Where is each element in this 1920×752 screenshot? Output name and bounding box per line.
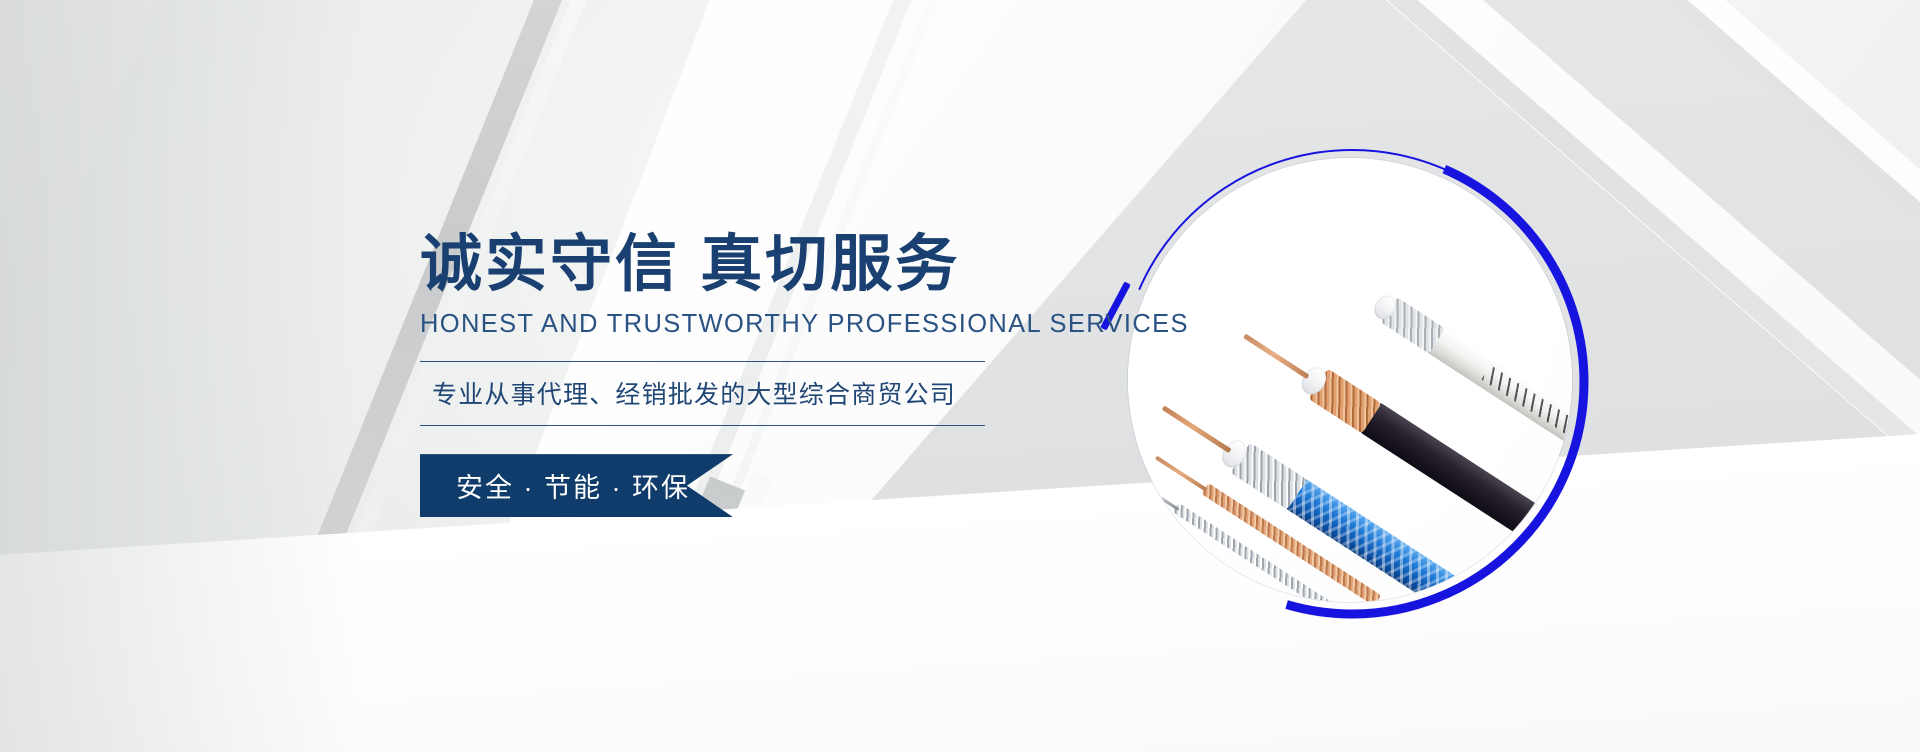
product-image-circle — [1120, 150, 1580, 610]
description-text: 专业从事代理、经销批发的大型综合商贸公司 — [420, 375, 985, 411]
cable-white-jacket — [1352, 278, 1572, 483]
cable-black-core — [1243, 334, 1309, 380]
cable-copper-wire-core — [1155, 455, 1207, 491]
cable-blue-core — [1162, 405, 1232, 453]
cable-silver-wire-core — [1131, 477, 1180, 510]
status-badge: 安全 · 节能 · 环保 — [420, 454, 733, 517]
product-photo-backdrop — [1128, 158, 1572, 602]
subtitle-english: HONEST AND TRUSTWORTHY PROFESSIONAL SERV… — [420, 310, 1060, 339]
description-divider-block: 专业从事代理、经销批发的大型综合商贸公司 — [420, 361, 985, 426]
status-badge-label: 安全 · 节能 · 环保 — [420, 466, 690, 505]
banner-text-block: 诚实守信 真切服务 HONEST AND TRUSTWORTHY PROFESS… — [420, 232, 1060, 517]
background-vignette-left — [0, 0, 360, 752]
hero-banner: 诚实守信 真切服务 HONEST AND TRUSTWORTHY PROFESS… — [0, 0, 1920, 752]
product-photo — [1128, 158, 1572, 602]
cable-white-core — [1318, 263, 1381, 306]
page-title: 诚实守信 真切服务 — [420, 232, 1060, 297]
